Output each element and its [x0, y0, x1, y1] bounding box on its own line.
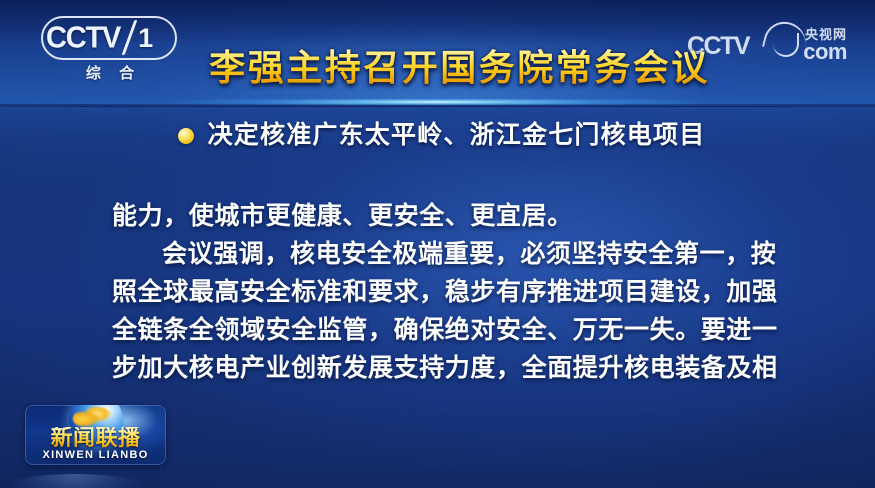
xinwen-lianbo-logo: 新闻联播 XINWEN LIANBO — [25, 405, 166, 465]
body-line: 会议强调，核电安全极端重要，必须坚持安全第一，按 — [112, 235, 772, 273]
body-line: 全链条全领域安全监管，确保绝对安全、万无一失。要进一 — [112, 311, 772, 349]
program-title-cn: 新闻联播 — [25, 427, 166, 449]
news-broadcast-frame: CCTV 1 综 合 CCTV 央视网 com 李强主持召开国务院常务会议 决定… — [0, 0, 875, 488]
header-divider-glow — [0, 99, 875, 105]
body-line: 能力，使城市更健康、更安全、更宜居。 — [112, 197, 772, 235]
header-divider-line — [0, 106, 875, 107]
body-paragraph: 能力，使城市更健康、更安全、更宜居。 会议强调，核电安全极端重要，必须坚持安全第… — [112, 197, 772, 387]
bullet-point-icon — [178, 128, 194, 144]
body-line: 照全球最高安全标准和要求，稳步有序推进项目建设，加强 — [112, 273, 772, 311]
subtitle-text: 决定核准广东太平岭、浙江金七门核电项目 — [208, 123, 706, 148]
program-title-en: XINWEN LIANBO — [25, 450, 166, 461]
headline-title: 李强主持召开国务院常务会议 — [0, 48, 875, 88]
subtitle-row: 决定核准广东太平岭、浙江金七门核电项目 — [0, 123, 875, 148]
body-line: 步加大核电产业创新发展支持力度，全面提升核电装备及相 — [112, 349, 772, 387]
